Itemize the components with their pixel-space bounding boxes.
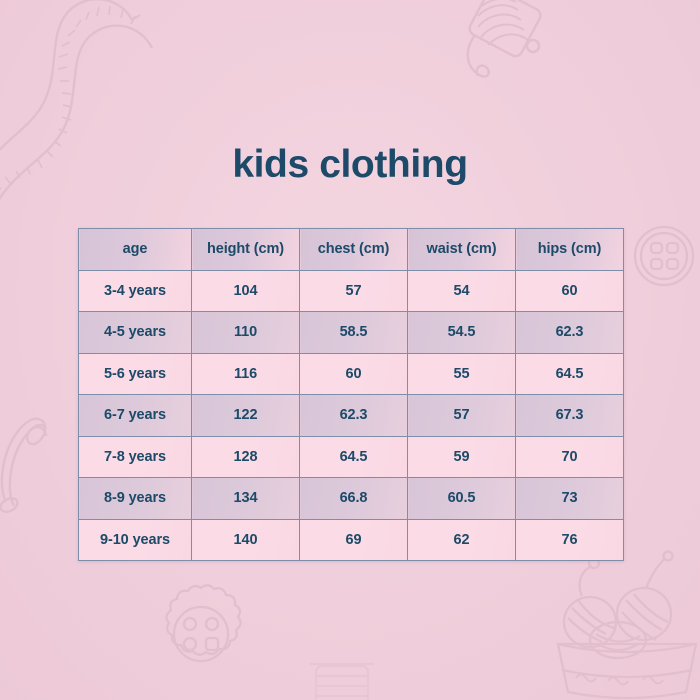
table-row: 7-8 years 128 64.5 59 70 bbox=[79, 436, 624, 478]
cell-age: 7-8 years bbox=[79, 436, 192, 478]
cell-hips: 62.3 bbox=[516, 312, 624, 354]
thread-spool-icon bbox=[462, 0, 582, 110]
cell-hips: 70 bbox=[516, 436, 624, 478]
cell-hips: 60 bbox=[516, 270, 624, 312]
cell-chest: 58.5 bbox=[300, 312, 408, 354]
cell-waist: 59 bbox=[408, 436, 516, 478]
cell-height: 110 bbox=[192, 312, 300, 354]
measuring-tape-icon bbox=[0, 0, 187, 224]
flower-button-icon bbox=[142, 578, 260, 690]
thread-spool-icon bbox=[300, 648, 392, 700]
table-row: 5-6 years 116 60 55 64.5 bbox=[79, 353, 624, 395]
size-chart-table: age height (cm) chest (cm) waist (cm) hi… bbox=[78, 228, 624, 561]
cell-height: 122 bbox=[192, 395, 300, 437]
cell-chest: 57 bbox=[300, 270, 408, 312]
cell-height: 104 bbox=[192, 270, 300, 312]
cell-chest: 60 bbox=[300, 353, 408, 395]
cell-waist: 60.5 bbox=[408, 478, 516, 520]
cell-height: 140 bbox=[192, 519, 300, 561]
cell-chest: 66.8 bbox=[300, 478, 408, 520]
cell-age: 4-5 years bbox=[79, 312, 192, 354]
cell-hips: 64.5 bbox=[516, 353, 624, 395]
cell-hips: 73 bbox=[516, 478, 624, 520]
size-chart-table-container: age height (cm) chest (cm) waist (cm) hi… bbox=[78, 228, 623, 561]
cell-waist: 54 bbox=[408, 270, 516, 312]
cell-age: 8-9 years bbox=[79, 478, 192, 520]
cell-height: 116 bbox=[192, 353, 300, 395]
cell-age: 3-4 years bbox=[79, 270, 192, 312]
page-title: kids clothing bbox=[0, 142, 700, 188]
cell-chest: 62.3 bbox=[300, 395, 408, 437]
cell-age: 6-7 years bbox=[79, 395, 192, 437]
cell-waist: 54.5 bbox=[408, 312, 516, 354]
column-header-height: height (cm) bbox=[192, 229, 300, 271]
column-header-waist: waist (cm) bbox=[408, 229, 516, 271]
cell-waist: 57 bbox=[408, 395, 516, 437]
safety-pin-icon bbox=[0, 398, 60, 514]
table-row: 6-7 years 122 62.3 57 67.3 bbox=[79, 395, 624, 437]
button-icon bbox=[634, 214, 700, 298]
table-row: 4-5 years 110 58.5 54.5 62.3 bbox=[79, 312, 624, 354]
cell-height: 134 bbox=[192, 478, 300, 520]
cell-chest: 64.5 bbox=[300, 436, 408, 478]
cell-hips: 76 bbox=[516, 519, 624, 561]
cell-waist: 62 bbox=[408, 519, 516, 561]
cell-hips: 67.3 bbox=[516, 395, 624, 437]
cell-chest: 69 bbox=[300, 519, 408, 561]
cell-height: 128 bbox=[192, 436, 300, 478]
table-row: 9-10 years 140 69 62 76 bbox=[79, 519, 624, 561]
table-header-row: age height (cm) chest (cm) waist (cm) hi… bbox=[79, 229, 624, 271]
column-header-age: age bbox=[79, 229, 192, 271]
table-row: 3-4 years 104 57 54 60 bbox=[79, 270, 624, 312]
yarn-basket-icon bbox=[548, 552, 700, 700]
cell-age: 5-6 years bbox=[79, 353, 192, 395]
chart-canvas: kids clothing age height (cm) chest (cm)… bbox=[0, 0, 700, 700]
cell-waist: 55 bbox=[408, 353, 516, 395]
cell-age: 9-10 years bbox=[79, 519, 192, 561]
table-row: 8-9 years 134 66.8 60.5 73 bbox=[79, 478, 624, 520]
column-header-hips: hips (cm) bbox=[516, 229, 624, 271]
column-header-chest: chest (cm) bbox=[300, 229, 408, 271]
